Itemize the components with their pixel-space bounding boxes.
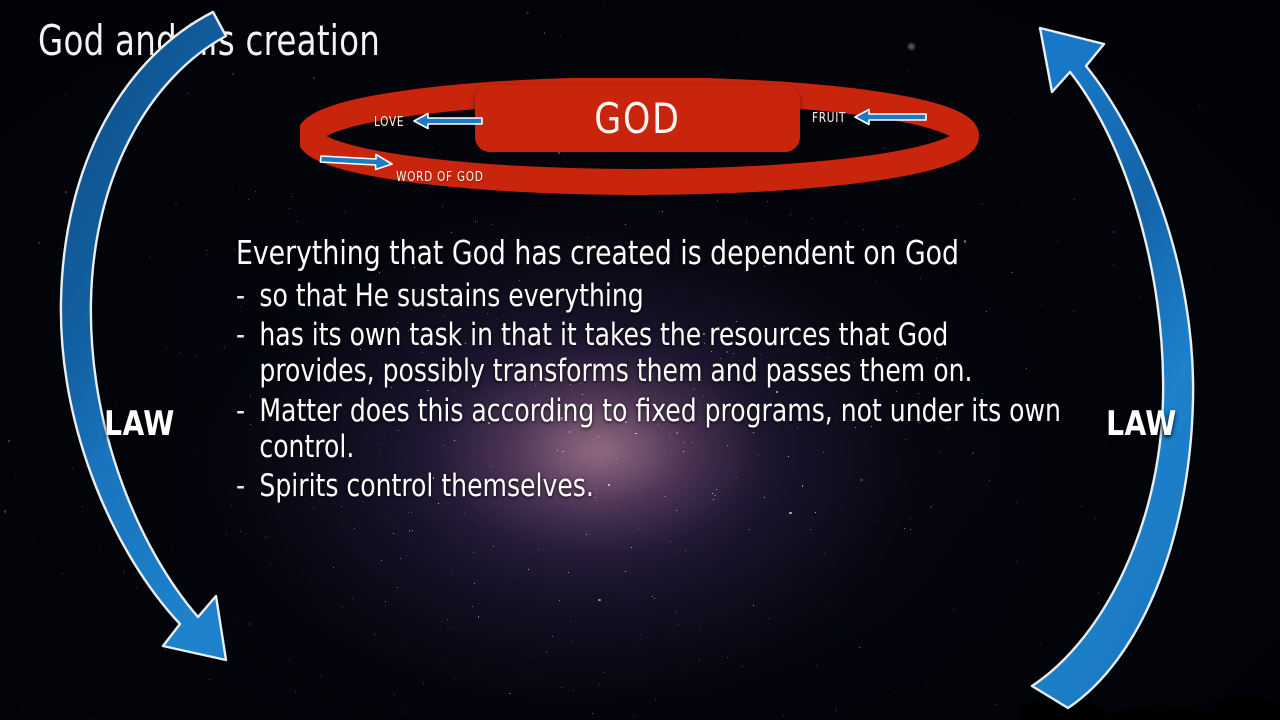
left-arrow-icon — [853, 107, 928, 127]
bullet-marker: - — [236, 468, 259, 504]
list-item-text: so that He sustains everything — [259, 278, 1065, 314]
list-item-text: Spirits control themselves. — [259, 468, 1065, 504]
list-item-text: has its own task in that it takes the re… — [259, 317, 1065, 390]
god-creation-cycle-diagram: GOD LOVE FRUIT WORD OF GOD — [300, 78, 990, 200]
bullet-marker: - — [236, 278, 259, 314]
bullet-marker: - — [236, 317, 259, 390]
list-item: - so that He sustains everything — [236, 278, 1065, 314]
body-text-block: Everything that God has created is depen… — [236, 234, 1066, 508]
right-arrow-icon — [318, 151, 394, 173]
slide-canvas: God and his creation GOD LOVE FRUIT WORD… — [0, 0, 1280, 720]
list-item: - Spirits control themselves. — [236, 468, 1065, 504]
left-arrow-icon — [412, 111, 484, 131]
law-label-right: LAW — [1106, 404, 1177, 444]
god-node-label: GOD — [488, 85, 787, 152]
god-node[interactable]: GOD — [475, 85, 800, 152]
list-item: - has its own task in that it takes the … — [236, 317, 1065, 390]
list-item-text: Matter does this according to fixed prog… — [259, 393, 1065, 466]
body-lead-line: Everything that God has created is depen… — [236, 234, 983, 272]
bullet-marker: - — [236, 393, 259, 466]
law-label-left: LAW — [104, 404, 175, 444]
list-item: - Matter does this according to fixed pr… — [236, 393, 1065, 466]
cycle-label-fruit: FRUIT — [812, 111, 846, 126]
cycle-label-love: LOVE — [374, 115, 404, 130]
cycle-label-word-of-god: WORD OF GOD — [396, 170, 484, 185]
